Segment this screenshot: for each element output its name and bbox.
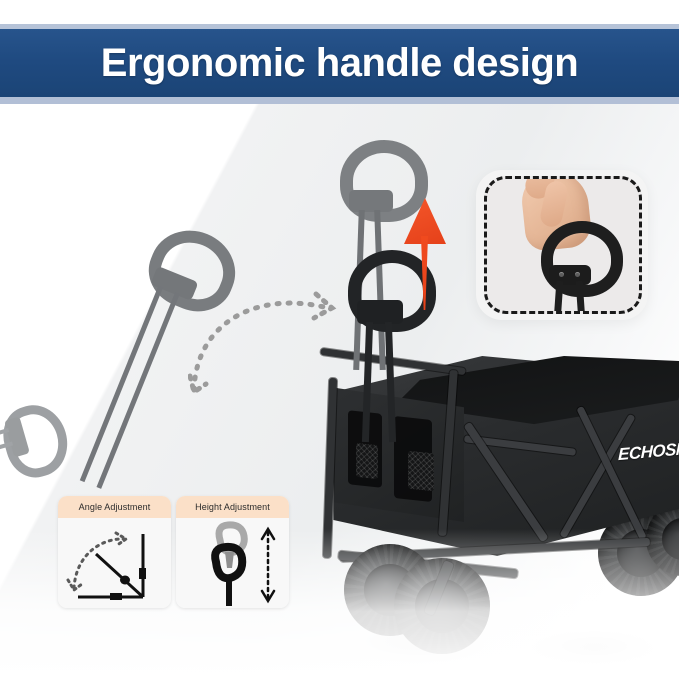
detail-inset-box xyxy=(484,176,642,314)
card-title: Height Adjustment xyxy=(195,502,270,512)
card-header: Angle Adjustment xyxy=(58,496,171,518)
rotation-arc-arrow xyxy=(188,282,338,402)
handle-shaft-left xyxy=(554,281,564,314)
card-header: Height Adjustment xyxy=(176,496,289,518)
banner-bottom-rail xyxy=(0,97,679,104)
rivet-icon xyxy=(575,272,580,277)
card-title: Angle Adjustment xyxy=(79,502,151,512)
card-angle-adjustment[interactable]: Angle Adjustment xyxy=(58,496,171,608)
card-height-adjustment[interactable]: Height Adjustment xyxy=(176,496,289,608)
mesh-pocket xyxy=(356,443,378,479)
handle-pivot-plate xyxy=(357,300,403,324)
card-diagram-area xyxy=(58,518,171,608)
up-arrow-icon xyxy=(403,196,447,308)
mesh-pocket xyxy=(408,451,434,492)
handle-pivot-plate xyxy=(349,190,393,212)
telescoping-height-diagram xyxy=(176,518,289,608)
banner-body: Ergonomic handle design xyxy=(0,29,679,97)
up-arrow-shaft xyxy=(421,236,428,310)
rivet-icon xyxy=(559,272,564,277)
banner-title: Ergonomic handle design xyxy=(101,41,578,86)
card-diagram-area xyxy=(176,518,289,608)
product-image-canvas: Ergonomic handle design xyxy=(0,0,679,679)
headline-banner: Ergonomic handle design xyxy=(0,24,679,104)
angle-pivot-diagram xyxy=(58,518,171,608)
